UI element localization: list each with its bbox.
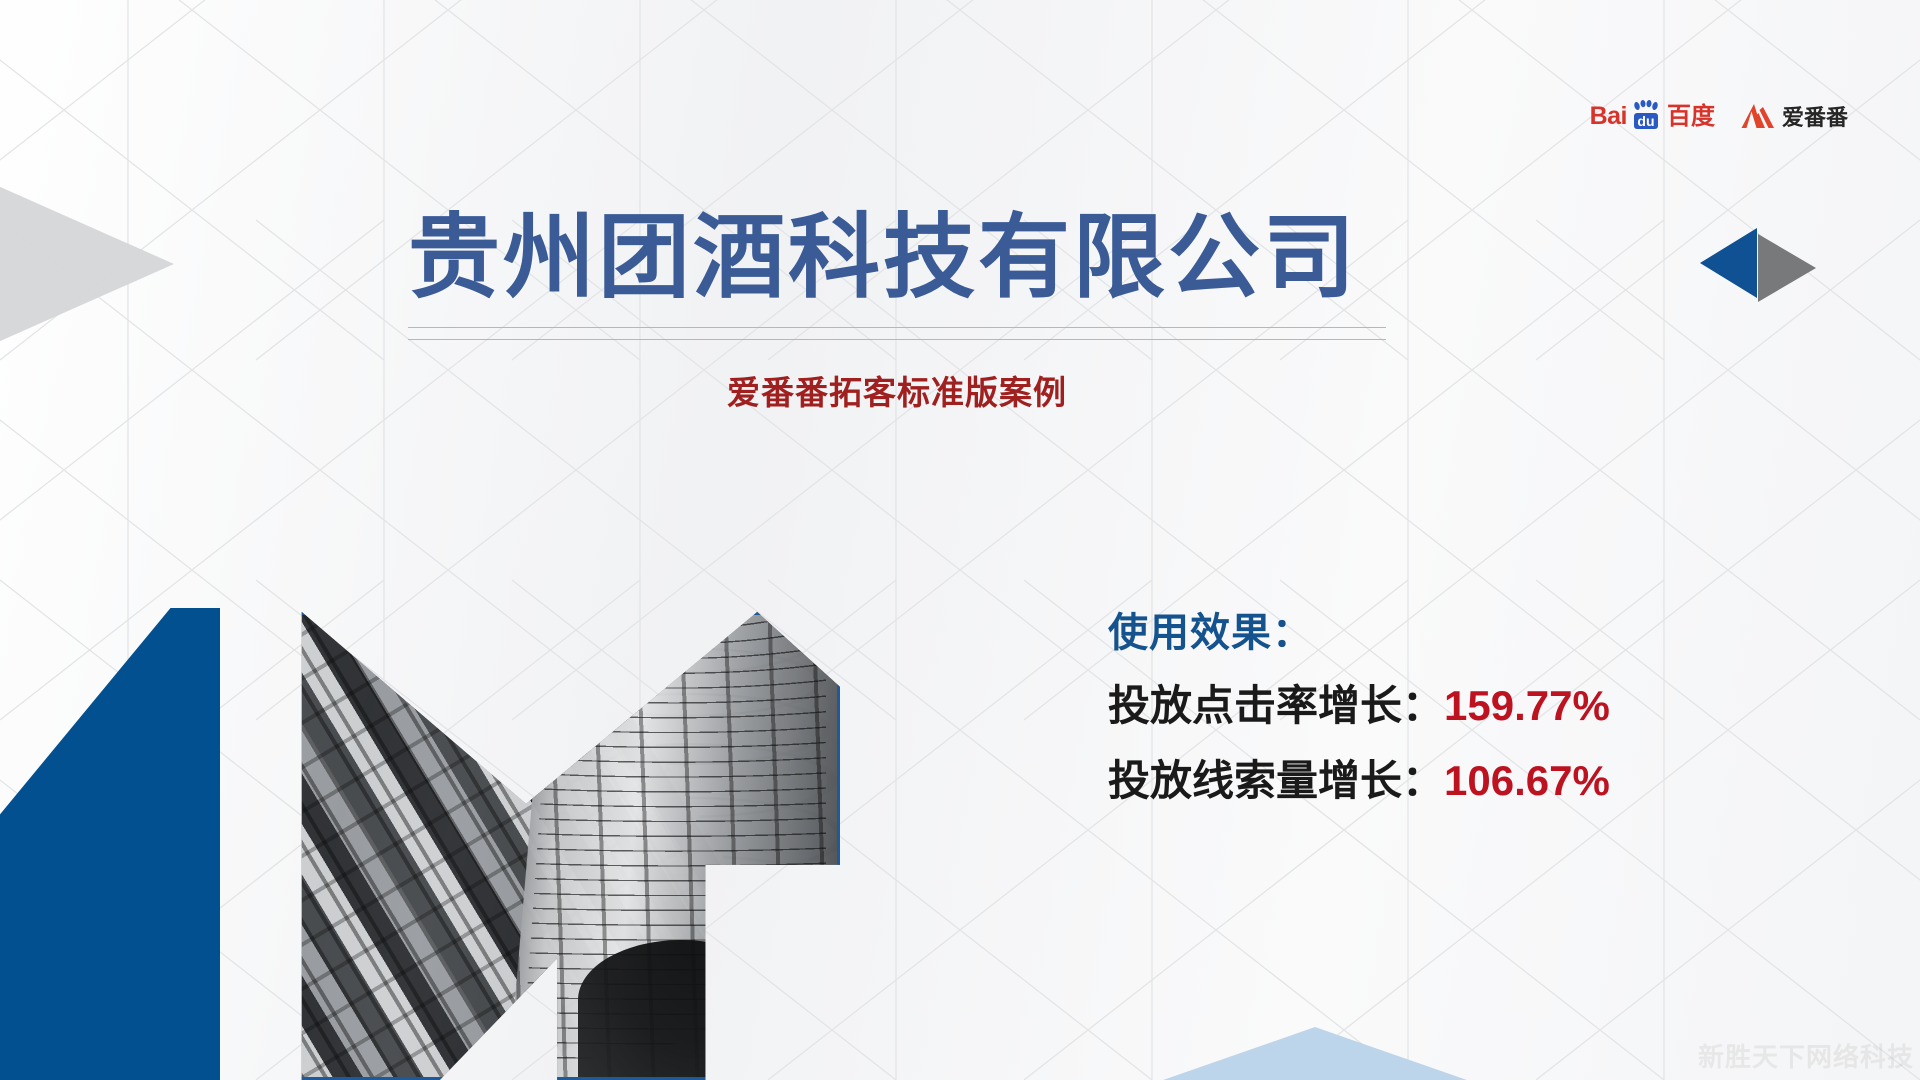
page-title: 贵州团酒科技有限公司 (408, 204, 1398, 313)
title-block: 贵州团酒科技有限公司 爱番番拓客标准版案例 (408, 204, 1398, 414)
decor-arrows (1700, 222, 1824, 314)
result-label-0: 投放点击率增长： (1108, 682, 1444, 729)
aifanfan-logo-text: 爱番番 (1782, 100, 1848, 132)
baidu-logo: Bai du 百度 (1590, 104, 1715, 129)
divider-line-bottom (408, 339, 1386, 340)
baidu-logo-latin: Bai (1590, 104, 1627, 129)
divider-line-top (408, 327, 1386, 328)
slide-canvas: Bai du 百度 爱番番 (0, 0, 1920, 1080)
aifanfan-mark-icon (1741, 102, 1775, 130)
results-heading: 使用效果： (1108, 600, 1748, 658)
title-divider (408, 327, 1386, 340)
baidu-logo-badge: du (1634, 113, 1657, 129)
result-label-1: 投放线索量增长： (1108, 757, 1444, 804)
decor-gray-triangle (0, 186, 174, 342)
results-block: 使用效果： 投放点击率增长：159.77% 投放线索量增长：106.67% (1108, 600, 1748, 808)
triangle-left-icon (1700, 228, 1757, 298)
baidu-logo-chinese: 百度 (1667, 105, 1715, 129)
watermark: 新胜天下网络科技 (1698, 1037, 1914, 1074)
aifanfan-logo: 爱番番 (1741, 100, 1848, 132)
result-row-1: 投放线索量增长：106.67% (1108, 747, 1748, 808)
result-row-0: 投放点击率增长：159.77% (1108, 672, 1748, 733)
baidu-paw-icon: du (1629, 104, 1663, 129)
triangle-right-icon (1758, 234, 1816, 302)
result-value-1: 106.67% (1444, 757, 1610, 804)
logo-row: Bai du 百度 爱番番 (1590, 100, 1848, 132)
page-subtitle: 爱番番拓客标准版案例 (408, 366, 1386, 414)
background-wash (0, 0, 1920, 1080)
result-value-0: 159.77% (1444, 682, 1610, 729)
